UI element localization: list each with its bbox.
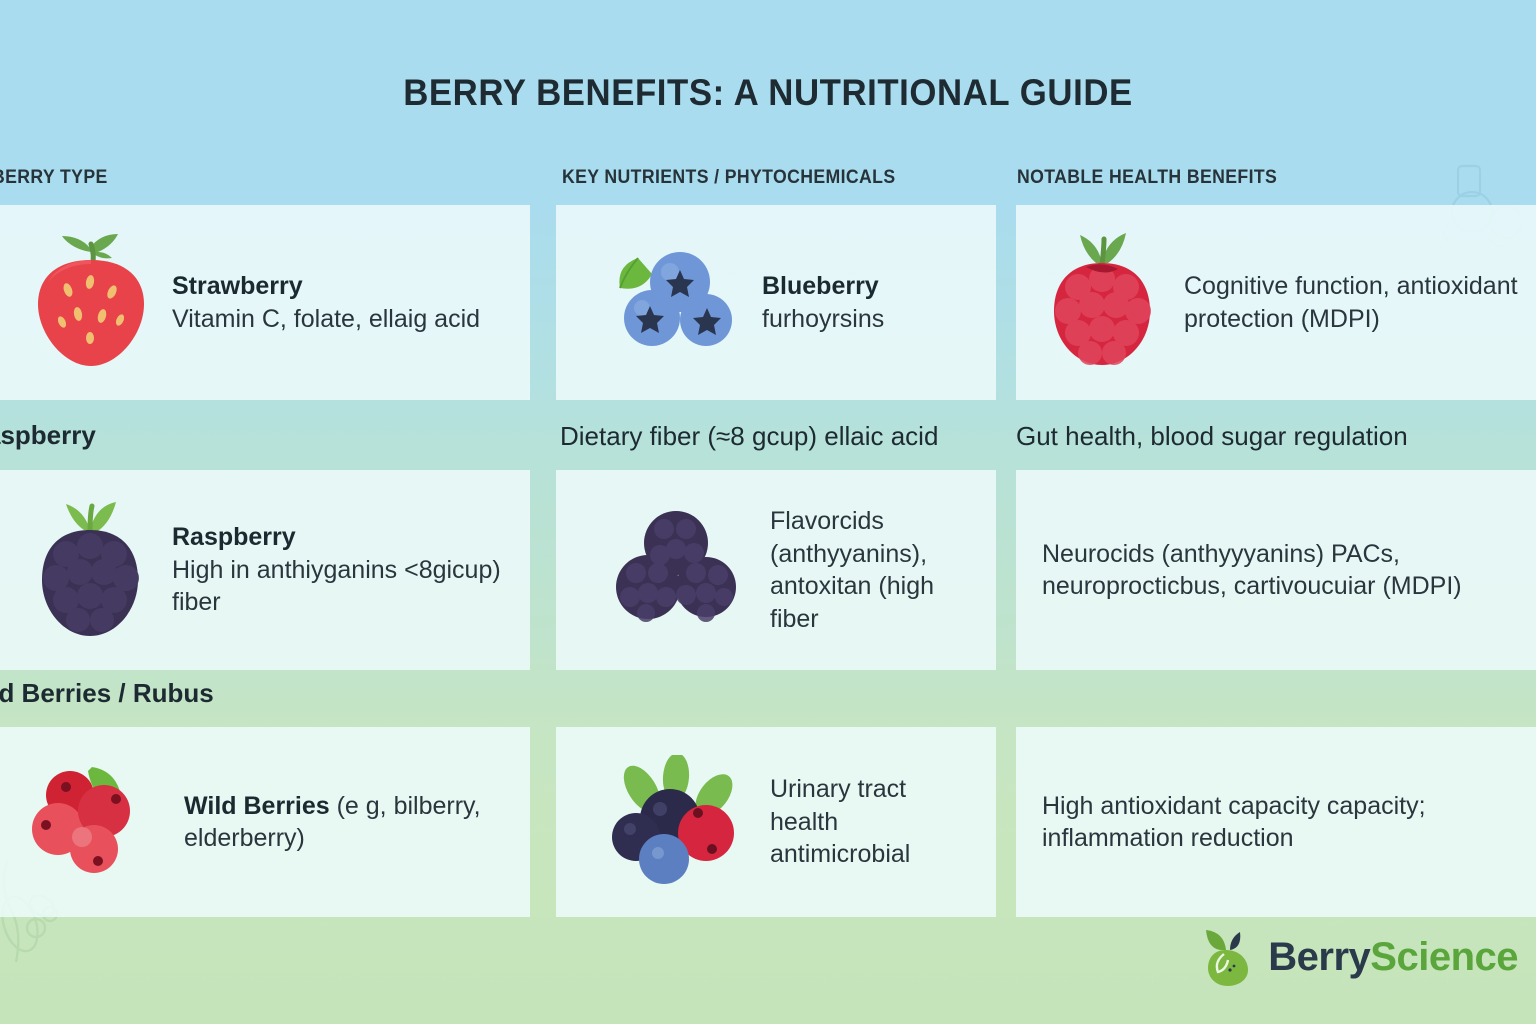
table-row-3-cell-health: High antioxidant capacity capacity; infl… (1016, 727, 1536, 917)
logo-wordmark: BerryScience (1268, 935, 1518, 980)
cranberry-cluster-icon (32, 755, 162, 890)
cell-text: Blueberry furhoyrsins (762, 270, 884, 335)
cell-text: Cognitive function, antioxidant protecti… (1184, 270, 1535, 335)
berry-detail: furhoyrsins (762, 305, 884, 333)
table-row-2-cell-key-nutrients: Flavorcids (anthyyanins), antoxitan (hig… (556, 470, 996, 670)
strawberry-icon (32, 230, 150, 375)
logo-word-science: Science (1370, 935, 1518, 979)
cell-text: Neurocids (anthyyyanins) PACs, neuroproc… (1042, 538, 1535, 603)
table-row-1-cell-key-nutrients: Blueberry furhoyrsins (556, 205, 996, 400)
table-row-3-cell-berry-type: Wild Berries (e g, bilberry, elderberry) (0, 727, 530, 917)
band-row-1-col-3: Gut health, blood sugar regulation (1016, 421, 1408, 452)
cell-text: Flavorcids (anthyyanins), antoxitan (hig… (770, 505, 970, 635)
column-header-health: NOTABLE HEALTH BENEFITS (1017, 167, 1277, 189)
berry-detail: Vitamin C, folate, ellaig acid (172, 305, 480, 333)
berry-leaf-logo-icon (1200, 926, 1258, 988)
cell-text: High antioxidant capacity capacity; infl… (1042, 790, 1535, 855)
table-row-1-cell-health: Cognitive function, antioxidant protecti… (1016, 205, 1536, 400)
berry-detail: High in anthiyganins <8gicup) fiber (172, 556, 501, 617)
band-row-2-col-1: iid Berries / Rubus (0, 678, 214, 709)
cell-text: Raspberry High in anthiyganins <8gicup) … (172, 521, 504, 619)
blackberry-dark-icon (32, 494, 150, 647)
blackberry-trio-icon (608, 503, 748, 638)
page-title: BERRY BENEFITS: A NUTRITIONAL GUIDE (46, 72, 1490, 114)
table-row-3-cell-key-nutrients: Urinary tract health antimicrobial (556, 727, 996, 917)
band-row-1-col-1: aspberry (0, 420, 96, 451)
band-row-1-col-2: Dietary fiber (≈8 gcup) ellaic acid (560, 421, 938, 452)
cell-text: Urinary tract health antimicrobial (770, 773, 970, 871)
berry-name: Raspberry (172, 523, 296, 551)
table-row-2-cell-berry-type: Raspberry High in anthiyganins <8gicup) … (0, 470, 530, 670)
column-header-berry-type: BERRY TYPE (0, 167, 108, 189)
mixed-berries-icon (608, 755, 748, 890)
raspberry-icon (1042, 229, 1162, 376)
blueberry-icon (608, 242, 740, 363)
column-header-key-nutrients: KEY NUTRIENTS / PHYTOCHEMICALS (562, 167, 896, 189)
logo-word-berry: Berry (1268, 935, 1370, 979)
brand-logo: BerryScience (1200, 926, 1518, 988)
table-row-1-cell-berry-type: Strawberry Vitamin C, folate, ellaig aci… (0, 205, 530, 400)
berry-name: Strawberry (172, 272, 303, 300)
berry-name: Blueberry (762, 272, 879, 300)
berry-name: Wild Berries (184, 792, 330, 820)
table-row-2-cell-health: Neurocids (anthyyyanins) PACs, neuroproc… (1016, 470, 1536, 670)
cell-text: Strawberry Vitamin C, folate, ellaig aci… (172, 270, 480, 335)
cell-text: Wild Berries (e g, bilberry, elderberry) (184, 790, 504, 855)
